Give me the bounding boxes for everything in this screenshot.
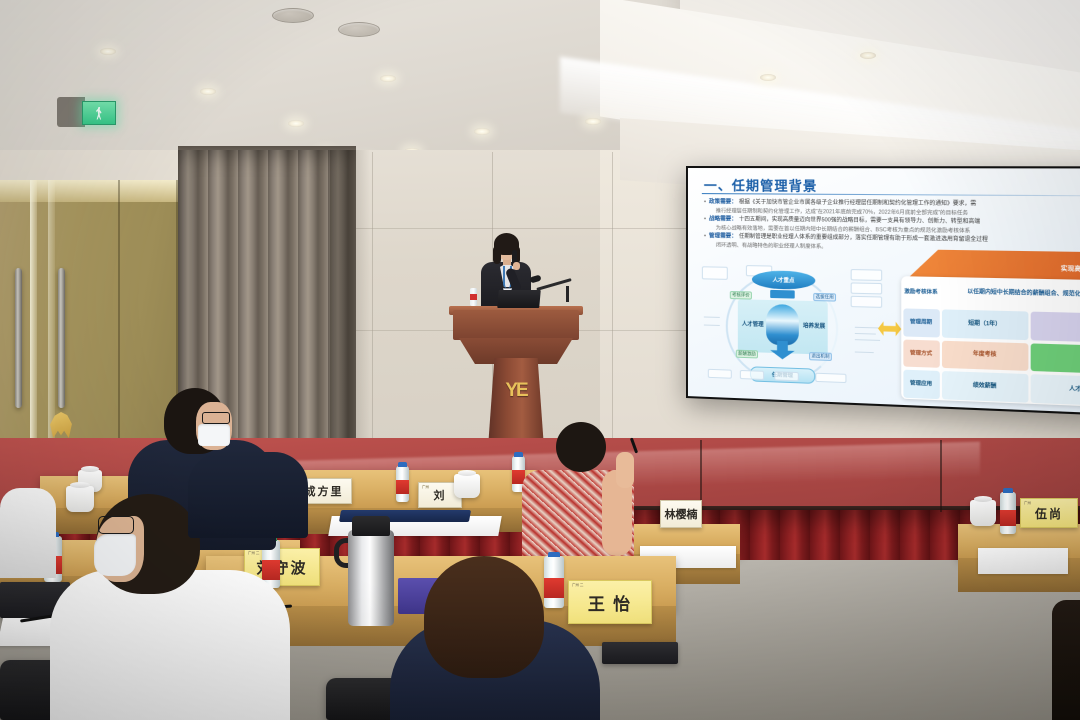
- table-row-header: 管理方式: [903, 339, 939, 368]
- diagram-arrow-up: [770, 290, 795, 299]
- attendee-body: [188, 452, 308, 538]
- ceiling-vent: [338, 22, 380, 37]
- diagram-chip: 考核评价: [730, 291, 752, 300]
- diagram-ghost-box: [702, 266, 728, 280]
- table-cell: 年度考核: [941, 340, 1028, 371]
- diagram-ghost-line: [855, 339, 880, 341]
- diagram-ghost-line: [855, 351, 874, 353]
- downlight-icon: [380, 75, 396, 82]
- slide-title-underline: [702, 193, 1080, 196]
- downlight-icon: [474, 128, 490, 135]
- projection-screen[interactable]: 一、任期管理背景 ▪ 政策需要： 根据《关于加快市管企业市属各级子企业推行经理层…: [686, 166, 1080, 416]
- comparison-table: 激励考核体系 以任期内短中长期结合的薪酬组合、规范化激励 管理周期 短期（1年）…: [901, 276, 1080, 407]
- bottle-cap: [1003, 488, 1013, 493]
- diagram-ghost-box: [708, 369, 732, 379]
- bullet-tag: 政策需要：: [709, 198, 737, 206]
- name-card-logo: 广州 二: [248, 551, 259, 556]
- wall-seam: [356, 228, 686, 229]
- speaker-hair-side: [493, 246, 501, 264]
- bullet-dash-icon: ▪: [704, 215, 706, 223]
- attendee-body: [50, 570, 290, 720]
- document-sheet: [978, 548, 1068, 574]
- eyeglasses: [202, 412, 230, 424]
- name-card-logo: 广州: [1024, 501, 1031, 506]
- bottle-label: [544, 578, 564, 598]
- diagram-chip: 选拔任用: [813, 293, 836, 302]
- face-mask: [94, 534, 136, 576]
- table-cell: 绩效薪酬: [941, 371, 1028, 402]
- table-cell: 短期（1年）: [941, 309, 1028, 339]
- downlight-icon: [288, 120, 304, 127]
- door-handle[interactable]: [15, 268, 22, 408]
- bottle-label: [1000, 510, 1016, 526]
- diagram-center-icon: [766, 304, 799, 346]
- tea-cup: [66, 486, 94, 512]
- bottle-label: [396, 480, 409, 494]
- thermos-lid: [352, 516, 390, 536]
- table-row-header: 管理应用: [903, 370, 939, 399]
- podium-laptop: [497, 290, 541, 308]
- bottle-cap: [398, 462, 406, 467]
- slide-title: 一、任期管理背景: [704, 175, 818, 195]
- name-card-text: 林樱楠: [665, 506, 698, 522]
- name-card-logo: 广州: [422, 485, 429, 490]
- bottle-cap: [548, 552, 561, 557]
- diagram-ghost-box: [851, 282, 883, 294]
- diagram-left-label: 人才管理: [742, 320, 764, 329]
- door-handle[interactable]: [58, 268, 65, 408]
- name-card-text: 刘: [434, 487, 447, 503]
- face-mask: [198, 424, 230, 446]
- diagram-ghost-box: [851, 269, 883, 281]
- table-cell: 人才: [1031, 374, 1080, 406]
- laptop: [602, 642, 678, 664]
- slide-bullet-list: ▪ 政策需要： 根据《关于加快市管企业市属各级子企业推行经理层任期制和契约化管理…: [704, 198, 1080, 255]
- diagram-ghost-line: [704, 325, 720, 326]
- cabinet-top-light: [0, 180, 182, 202]
- name-card-text: 王 怡: [588, 590, 632, 615]
- tea-cup: [454, 474, 480, 498]
- bottle-cap: [514, 452, 522, 457]
- attendee-head: [556, 422, 606, 472]
- diagram-ghost-box: [774, 371, 799, 381]
- thermos-flask: [348, 530, 394, 626]
- wall-seam: [612, 152, 613, 452]
- table-row-header: 激励考核体系: [903, 278, 939, 306]
- diagram-ghost-box: [740, 370, 764, 380]
- bullet-dash-icon: ▪: [704, 232, 706, 240]
- bullet-tag: 管理需要：: [709, 232, 737, 240]
- bottle-label: [262, 560, 280, 580]
- attendee-hand: [616, 452, 634, 488]
- attendee-body: [0, 488, 56, 578]
- diagram-ghost-box: [851, 296, 883, 308]
- water-bottle: [544, 556, 564, 608]
- water-bottle: [1000, 492, 1016, 534]
- speaker-hand: [513, 262, 520, 270]
- downlight-icon: [860, 52, 876, 59]
- diagram-ghost-line: [704, 316, 720, 317]
- table-row-header: 管理周期: [903, 308, 939, 337]
- conference-room-photo: 一、任期管理背景 ▪ 政策需要： 根据《关于加快市管企业市属各级子企业推行经理层…: [0, 0, 1080, 720]
- table-cell: 以任期内短中长期结合的薪酬组合、规范化激励: [941, 279, 1080, 311]
- bullet-tag: 战略需要：: [709, 215, 737, 223]
- diagram-right-label: 培养发展: [803, 321, 825, 330]
- presentation-slide: 一、任期管理背景 ▪ 政策需要： 根据《关于加快市管企业市属各级子企业推行经理层…: [688, 168, 1080, 413]
- diagram-ghost-box: [815, 373, 846, 383]
- water-bottle: [396, 466, 409, 502]
- name-card-text: 成方里: [305, 483, 344, 499]
- diagram-ghost-line: [855, 333, 876, 335]
- name-card-text: 伍尚: [1035, 505, 1063, 522]
- eyeglasses: [98, 516, 134, 534]
- downlight-icon: [760, 74, 776, 81]
- slide-cycle-diagram: 人才重点 任期管理 人才管理 培养发展 考核评价 选拔任用 薪酬激励 退出机制: [702, 264, 887, 392]
- ceiling-vent: [272, 8, 314, 23]
- name-card: 林樱楠: [660, 500, 702, 528]
- name-card: 广州 二 王 怡: [568, 580, 652, 624]
- downlight-icon: [585, 118, 601, 125]
- podium-top: [453, 310, 579, 340]
- table-cell: [1031, 343, 1080, 374]
- attendee-body: [1052, 600, 1080, 720]
- banner-line-2: 实现高质量迈向: [906, 263, 1080, 275]
- downlight-icon: [200, 88, 216, 95]
- podium-logo: YE: [501, 378, 531, 404]
- diagram-ghost-line: [855, 327, 880, 329]
- running-man-icon: [96, 107, 103, 120]
- tea-cup: [970, 500, 996, 526]
- attendee-head: [424, 556, 544, 678]
- name-card-logo: 广州 二: [572, 583, 583, 588]
- diagram-chip: 退出机制: [809, 352, 832, 361]
- name-card: 广州 伍尚: [1020, 498, 1078, 528]
- table-cell: [1031, 312, 1080, 343]
- stage-seam: [940, 440, 942, 512]
- downlight-icon: [100, 48, 116, 55]
- diagram-chip: 薪酬激励: [736, 350, 758, 359]
- bullet-dash-icon: ▪: [704, 198, 706, 206]
- wall-seam: [372, 152, 373, 452]
- speaker-water-bottle: [470, 288, 477, 306]
- gooseneck-microphone-stem: [566, 286, 569, 302]
- exit-sign: [82, 101, 116, 125]
- table-row: 管理应用 绩效薪酬 人才: [901, 368, 1080, 407]
- exit-sign-bracket: [57, 97, 85, 127]
